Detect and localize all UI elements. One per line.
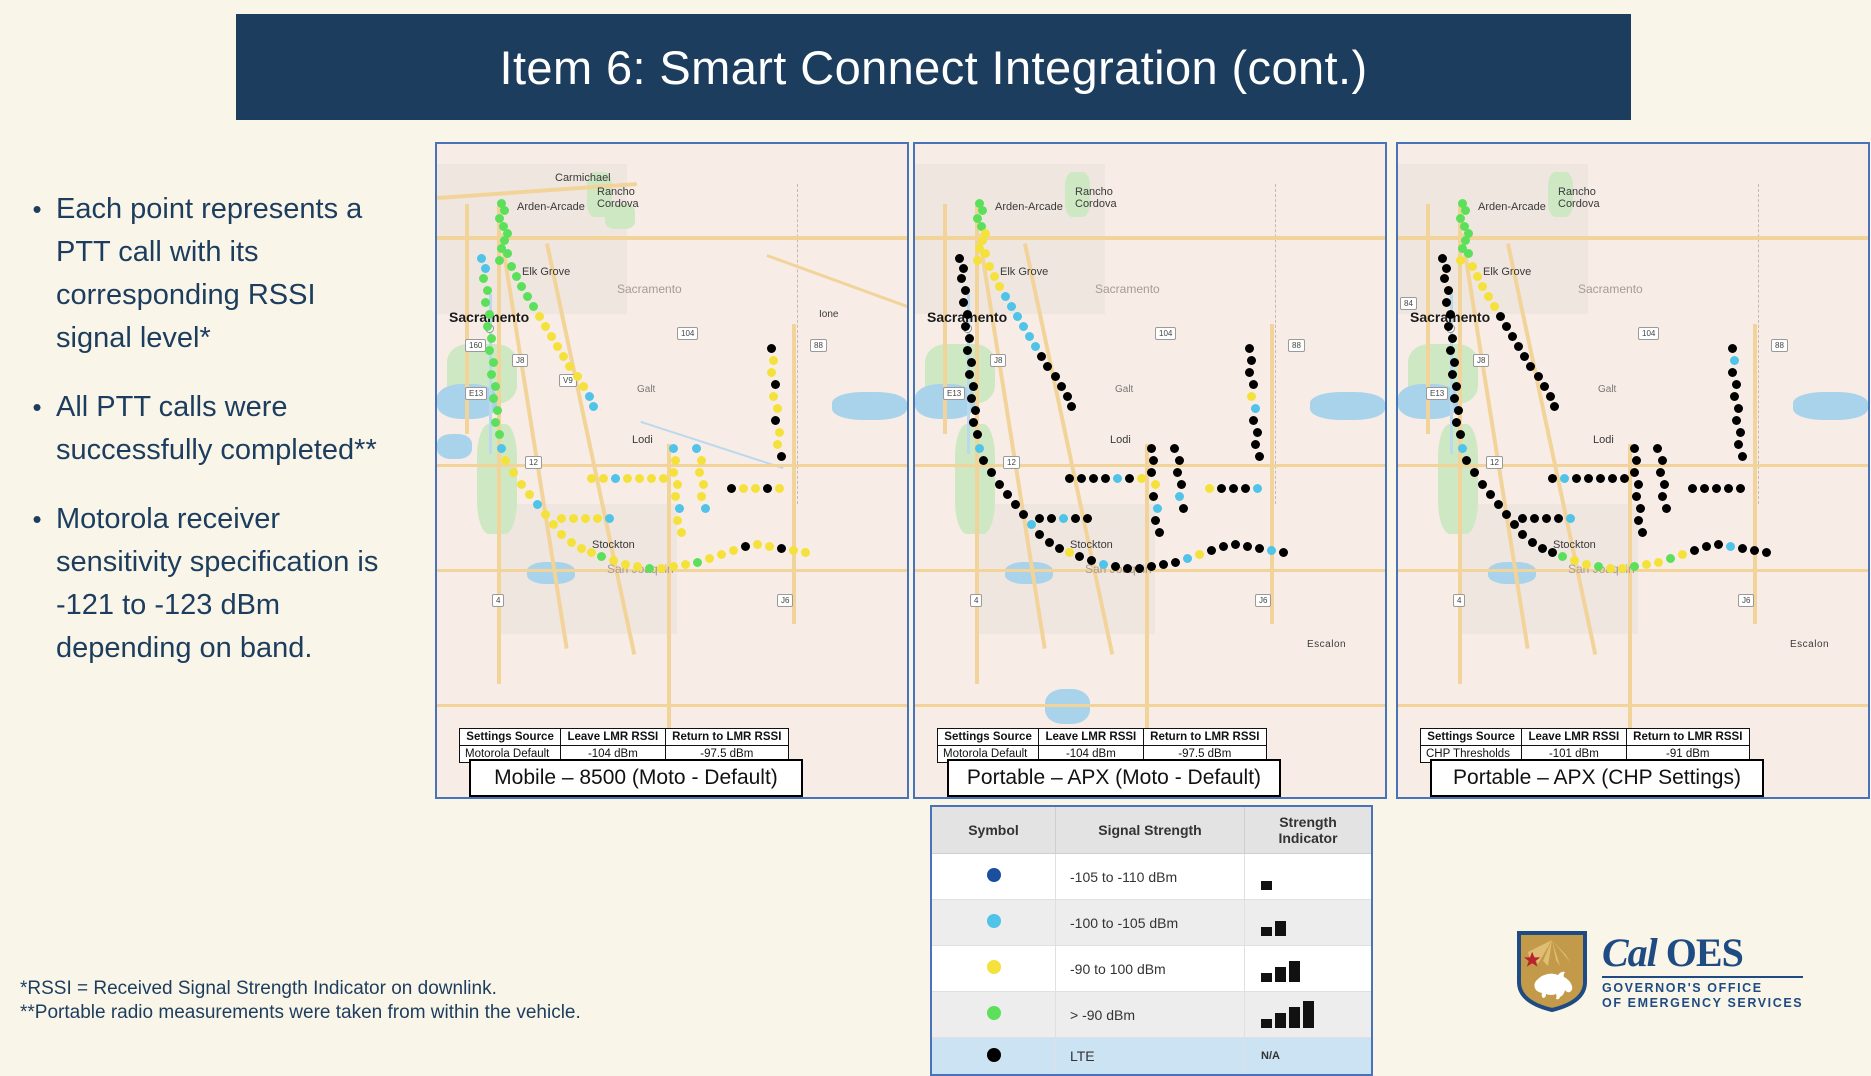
rssi-point <box>1450 358 1459 367</box>
rssi-point <box>535 312 544 321</box>
rssi-point <box>557 514 566 523</box>
rssi-point <box>1151 480 1160 489</box>
rssi-point <box>769 356 778 365</box>
rssi-point <box>1530 514 1539 523</box>
col-leave-lmr: Leave LMR RSSI <box>1039 729 1143 746</box>
rssi-point <box>1245 344 1254 353</box>
rssi-point <box>1596 474 1605 483</box>
rssi-point <box>489 358 498 367</box>
rssi-point <box>987 468 996 477</box>
map-label-galt: Galt <box>637 384 655 395</box>
rssi-point <box>695 468 704 477</box>
rssi-point <box>1446 346 1455 355</box>
rssi-point <box>657 564 666 573</box>
rssi-point <box>1247 356 1256 365</box>
legend-symbol-cell <box>931 1038 1056 1076</box>
bullet-text: Each point represents a PTT call with it… <box>56 188 386 360</box>
rssi-point <box>979 456 988 465</box>
rssi-point <box>1658 492 1667 501</box>
rssi-point <box>1486 490 1495 499</box>
rssi-point <box>1542 514 1551 523</box>
rssi-point <box>1570 556 1579 565</box>
rssi-point <box>681 560 690 569</box>
rssi-point <box>961 286 970 295</box>
rssi-point <box>1464 249 1473 258</box>
highway <box>1145 444 1149 734</box>
map-caption: Portable – APX (CHP Settings) <box>1430 759 1764 797</box>
map-label-rancho-cordova: RanchoCordova <box>1075 186 1117 210</box>
rssi-point <box>569 514 578 523</box>
rssi-point <box>1035 530 1044 539</box>
rssi-point <box>1083 514 1092 523</box>
rssi-point <box>965 370 974 379</box>
highway-shield: 4 <box>1453 594 1465 607</box>
col-leave-lmr: Leave LMR RSSI <box>1522 729 1626 746</box>
map-label-escalon: Escalon <box>1790 639 1829 650</box>
rssi-point <box>1528 538 1537 547</box>
rssi-point <box>1444 322 1453 331</box>
rssi-point <box>1550 402 1559 411</box>
rssi-point <box>773 404 782 413</box>
rssi-point <box>1179 504 1188 513</box>
map-label-elk-grove: Elk Grove <box>1483 266 1531 278</box>
legend-indicator <box>1245 946 1373 992</box>
rssi-point <box>1730 392 1739 401</box>
rssi-point <box>487 370 496 379</box>
rssi-point <box>777 544 786 553</box>
rssi-point <box>1478 282 1487 291</box>
county-boundary <box>797 184 798 504</box>
rssi-point <box>1738 544 1747 553</box>
rssi-point <box>1217 484 1226 493</box>
rssi-point <box>599 474 608 483</box>
rssi-point <box>1027 520 1036 529</box>
page-title: Item 6: Smart Connect Integration (cont.… <box>500 40 1368 95</box>
map-data-table: Settings Source Leave LMR RSSI Return to… <box>937 728 1267 763</box>
rssi-point <box>587 548 596 557</box>
map-caption: Portable – APX (Moto - Default) <box>947 759 1281 797</box>
rssi-point <box>611 474 620 483</box>
rssi-point <box>1205 484 1214 493</box>
rssi-point <box>789 546 798 555</box>
rssi-point <box>1558 552 1567 561</box>
rssi-point <box>1478 480 1487 489</box>
rssi-point <box>671 492 680 501</box>
rssi-point <box>669 444 678 453</box>
rssi-point <box>1762 548 1771 557</box>
rssi-point <box>1658 456 1667 465</box>
legend-header-row: Symbol Signal Strength Strength Indicato… <box>931 806 1372 854</box>
rssi-point <box>1101 474 1110 483</box>
legend-indicator <box>1245 900 1373 946</box>
footnotes: *RSSI = Received Signal Strength Indicat… <box>20 977 581 1025</box>
legend-dot-icon <box>987 1006 1001 1020</box>
rssi-point <box>1630 468 1639 477</box>
rssi-point <box>775 484 784 493</box>
rssi-point <box>1642 560 1651 569</box>
california-bear-shield-icon <box>1516 930 1588 1012</box>
rssi-point <box>587 474 596 483</box>
rssi-point <box>765 542 774 551</box>
rssi-point <box>1089 474 1098 483</box>
highway <box>792 324 796 624</box>
water-body <box>437 434 472 459</box>
rssi-point <box>1632 456 1641 465</box>
rssi-point <box>481 298 490 307</box>
highway-shield: J6 <box>1738 594 1754 607</box>
rssi-point <box>767 344 776 353</box>
rssi-point <box>605 514 614 523</box>
rssi-point <box>1173 468 1182 477</box>
rssi-point <box>1249 416 1258 425</box>
map-label-elk-grove: Elk Grove <box>1000 266 1048 278</box>
rssi-point <box>1688 484 1697 493</box>
rssi-point <box>1047 514 1056 523</box>
logo-cal-text: Cal <box>1602 930 1657 975</box>
rssi-point <box>495 256 504 265</box>
rssi-point <box>481 264 490 273</box>
rssi-point <box>753 540 762 549</box>
slide-title-bar: Item 6: Smart Connect Integration (cont.… <box>236 14 1631 120</box>
rssi-point <box>503 249 512 258</box>
rssi-point <box>697 492 706 501</box>
rssi-point <box>1656 468 1665 477</box>
bullet-dot-icon: • <box>18 386 56 428</box>
rssi-point <box>1520 352 1529 361</box>
highway <box>667 444 671 734</box>
rssi-point <box>763 484 772 493</box>
list-item: • Motorola receiver sensitivity specific… <box>18 498 418 670</box>
rssi-point <box>1245 368 1254 377</box>
rssi-point <box>965 334 974 343</box>
rssi-point <box>1087 556 1096 565</box>
map-label-arden-arcade: Arden-Arcade <box>995 201 1063 213</box>
rssi-point <box>673 516 682 525</box>
highway-shield: 84 <box>1400 297 1417 310</box>
rssi-point <box>1255 452 1264 461</box>
rssi-point <box>573 372 582 381</box>
highway-shield: E13 <box>1426 387 1448 400</box>
rssi-point <box>1444 286 1453 295</box>
rssi-point <box>1011 500 1020 509</box>
rssi-point <box>1113 474 1122 483</box>
rssi-point <box>1111 562 1120 571</box>
rssi-point <box>1678 550 1687 559</box>
rssi-point <box>507 262 516 271</box>
rssi-point <box>529 302 538 311</box>
rssi-point <box>959 298 968 307</box>
rssi-point <box>693 558 702 567</box>
rssi-point <box>1149 492 1158 501</box>
map-label-elk-grove: Elk Grove <box>522 266 570 278</box>
rssi-point <box>1728 368 1737 377</box>
rssi-point <box>1546 392 1555 401</box>
rssi-point <box>955 254 964 263</box>
rssi-point <box>485 310 494 319</box>
rssi-point <box>1518 514 1527 523</box>
rssi-point <box>1045 538 1054 547</box>
rssi-point <box>1634 480 1643 489</box>
legend-dot-icon <box>987 960 1001 974</box>
col-return-lmr: Return to LMR RSSI <box>665 729 788 746</box>
rssi-point <box>523 292 532 301</box>
rssi-point <box>1714 540 1723 549</box>
water-body <box>1310 392 1385 420</box>
map-label-lodi: Lodi <box>1593 434 1614 446</box>
map-label-arden-arcade: Arden-Arcade <box>1478 201 1546 213</box>
rssi-point <box>1055 544 1064 553</box>
rssi-point <box>553 342 562 351</box>
highway <box>437 704 907 707</box>
rssi-point <box>767 368 776 377</box>
rssi-point <box>957 274 966 283</box>
rssi-point <box>1147 444 1156 453</box>
rssi-point <box>990 272 999 281</box>
rssi-point <box>963 310 972 319</box>
map-data-table: Settings Source Leave LMR RSSI Return to… <box>459 728 789 763</box>
rssi-point <box>1125 474 1134 483</box>
logo-oes-text: OES <box>1666 930 1743 975</box>
map-panel-portable-apx-chp[interactable]: Sacramento RanchoCordova Arden-Arcade El… <box>1396 142 1870 799</box>
legend-indicator: N/A <box>1245 1038 1373 1076</box>
rssi-point <box>995 480 1004 489</box>
highway-shield: 160 <box>465 339 486 352</box>
rssi-point <box>1560 474 1569 483</box>
map-label-carmichael: Carmichael <box>555 172 611 184</box>
rssi-point <box>995 282 1004 291</box>
rssi-point <box>493 406 502 415</box>
highway <box>1628 444 1632 734</box>
rssi-point <box>1653 444 1662 453</box>
rssi-point <box>549 520 558 529</box>
bullet-dot-icon: • <box>18 188 56 230</box>
rssi-point <box>1666 554 1675 563</box>
rssi-point <box>609 556 618 565</box>
rssi-point <box>1728 344 1737 353</box>
water-body <box>1793 392 1868 420</box>
rssi-point <box>963 346 972 355</box>
col-return-lmr: Return to LMR RSSI <box>1626 729 1749 746</box>
legend-row-cyan: -100 to -105 dBm <box>931 900 1372 946</box>
map-label-arden-arcade: Arden-Arcade <box>517 201 585 213</box>
rssi-point <box>1732 380 1741 389</box>
highway-shield: J8 <box>512 354 528 367</box>
rssi-point <box>1035 514 1044 523</box>
rssi-point <box>675 504 684 513</box>
rssi-point <box>1147 468 1156 477</box>
rssi-point <box>1025 332 1034 341</box>
rssi-point <box>581 514 590 523</box>
rssi-point <box>1229 484 1238 493</box>
rssi-point <box>1608 474 1617 483</box>
rssi-point <box>1518 530 1527 539</box>
rssi-point <box>1057 382 1066 391</box>
rssi-point <box>1736 428 1745 437</box>
highway <box>1753 324 1757 624</box>
highway-shield: 88 <box>1771 339 1788 352</box>
col-settings-source: Settings Source <box>1421 729 1522 746</box>
rssi-point <box>1496 312 1505 321</box>
rssi-point <box>541 322 550 331</box>
rssi-point <box>1630 562 1639 571</box>
legend-value: -90 to 100 dBm <box>1056 946 1245 992</box>
rssi-point <box>741 542 750 551</box>
rssi-point <box>967 394 976 403</box>
col-strength-indicator: Strength Indicator <box>1245 806 1373 854</box>
highway-shield: 12 <box>1003 456 1020 469</box>
rssi-point <box>621 560 630 569</box>
rssi-point <box>491 382 500 391</box>
rssi-point <box>1159 560 1168 569</box>
map-label-galt: Galt <box>1598 384 1616 395</box>
rssi-point <box>1638 528 1647 537</box>
rssi-point <box>1750 546 1759 555</box>
rssi-point <box>1484 292 1493 301</box>
rssi-point <box>1538 544 1547 553</box>
rssi-point <box>1183 554 1192 563</box>
map-label-sacramento-county: Sacramento <box>1095 282 1160 296</box>
rssi-point <box>577 544 586 553</box>
legend-row-blue: -105 to -110 dBm <box>931 854 1372 900</box>
rssi-point <box>1253 428 1262 437</box>
rssi-point <box>739 484 748 493</box>
rssi-point <box>969 382 978 391</box>
rssi-point <box>1490 302 1499 311</box>
rssi-point <box>1702 542 1711 551</box>
rssi-point <box>1470 468 1479 477</box>
rssi-point <box>1253 484 1262 493</box>
highway <box>1270 324 1274 624</box>
rssi-point <box>1001 292 1010 301</box>
bullet-text: All PTT calls were successfully complete… <box>56 386 386 472</box>
rssi-point <box>1618 564 1627 573</box>
list-item: • Each point represents a PTT call with … <box>18 188 418 360</box>
rssi-point <box>1171 558 1180 567</box>
rssi-point <box>1137 474 1146 483</box>
rssi-point <box>541 510 550 519</box>
rssi-point <box>1456 430 1465 439</box>
rssi-point <box>1566 514 1575 523</box>
rssi-point <box>512 272 521 281</box>
bullet-text: Motorola receiver sensitivity specificat… <box>56 498 386 670</box>
rssi-point <box>633 562 642 571</box>
rssi-point <box>483 286 492 295</box>
map-panel-portable-apx-moto[interactable]: Sacramento RanchoCordova Arden-Arcade El… <box>913 142 1387 799</box>
legend-value: -100 to -105 dBm <box>1056 900 1245 946</box>
rssi-point <box>647 474 656 483</box>
rssi-point <box>1147 562 1156 571</box>
rssi-point <box>1043 362 1052 371</box>
rssi-point <box>1700 484 1709 493</box>
rssi-point <box>1548 474 1557 483</box>
rssi-point <box>483 322 492 331</box>
rssi-point <box>1438 254 1447 263</box>
rssi-point <box>985 262 994 271</box>
rssi-point <box>1724 484 1733 493</box>
rssi-point <box>1582 560 1591 569</box>
rssi-point <box>1067 402 1076 411</box>
rssi-point <box>565 362 574 371</box>
rssi-point <box>1170 444 1179 453</box>
rssi-point <box>1255 544 1264 553</box>
rssi-point <box>969 418 978 427</box>
rssi-point <box>1473 272 1482 281</box>
rssi-point <box>1037 352 1046 361</box>
legend-symbol-cell <box>931 992 1056 1038</box>
signal-legend-table: Symbol Signal Strength Strength Indicato… <box>930 805 1373 1076</box>
rssi-point <box>801 548 810 557</box>
map-panel-mobile-8500[interactable]: Sacramento Carmichael RanchoCordova Arde… <box>435 142 909 799</box>
rssi-point <box>1540 382 1549 391</box>
rssi-point <box>1279 548 1288 557</box>
highway-shield: 4 <box>970 594 982 607</box>
legend-symbol-cell <box>931 900 1056 946</box>
col-symbol: Symbol <box>931 806 1056 854</box>
rssi-point <box>771 380 780 389</box>
rssi-point <box>635 474 644 483</box>
rssi-point <box>589 402 598 411</box>
rssi-point <box>971 406 980 415</box>
rssi-point <box>1606 564 1615 573</box>
legend-dot-icon <box>987 868 1001 882</box>
rssi-point <box>495 430 504 439</box>
rssi-point <box>1454 406 1463 415</box>
rssi-point <box>1554 514 1563 523</box>
rssi-point <box>1526 362 1535 371</box>
county-boundary <box>1758 184 1759 504</box>
footnote-portable: **Portable radio measurements were taken… <box>20 1001 581 1025</box>
rssi-point <box>1019 510 1028 519</box>
highway-shield: 4 <box>492 594 504 607</box>
rssi-point <box>1207 546 1216 555</box>
rssi-point <box>485 346 494 355</box>
bullet-dot-icon: • <box>18 498 56 540</box>
rssi-point <box>1690 546 1699 555</box>
rssi-point <box>1195 550 1204 559</box>
col-return-lmr: Return to LMR RSSI <box>1143 729 1266 746</box>
col-settings-source: Settings Source <box>460 729 561 746</box>
legend-row-lte: LTE N/A <box>931 1038 1372 1076</box>
rssi-point <box>981 249 990 258</box>
highway-shield: J8 <box>1473 354 1489 367</box>
rssi-point <box>1135 564 1144 573</box>
rssi-point <box>1251 404 1260 413</box>
legend-indicator <box>1245 992 1373 1038</box>
rssi-point <box>775 428 784 437</box>
rssi-point <box>559 352 568 361</box>
rssi-point <box>1730 356 1739 365</box>
legend-dot-icon <box>987 1048 1001 1062</box>
rssi-point <box>729 546 738 555</box>
logo-brand: Cal OES <box>1602 932 1803 974</box>
rssi-point <box>489 394 498 403</box>
map-data-table: Settings Source Leave LMR RSSI Return to… <box>1420 728 1750 763</box>
rssi-point <box>1175 456 1184 465</box>
rssi-point <box>1502 322 1511 331</box>
rssi-point <box>509 468 518 477</box>
highway-shield: 104 <box>1638 327 1659 340</box>
rssi-point <box>699 480 708 489</box>
rssi-point <box>1243 542 1252 551</box>
rssi-point <box>692 444 701 453</box>
rssi-point <box>1003 490 1012 499</box>
highway <box>915 704 1385 707</box>
col-leave-lmr: Leave LMR RSSI <box>561 729 665 746</box>
rssi-point <box>1732 416 1741 425</box>
rssi-point <box>701 504 710 513</box>
rssi-point <box>967 358 976 367</box>
rssi-point <box>1175 492 1184 501</box>
